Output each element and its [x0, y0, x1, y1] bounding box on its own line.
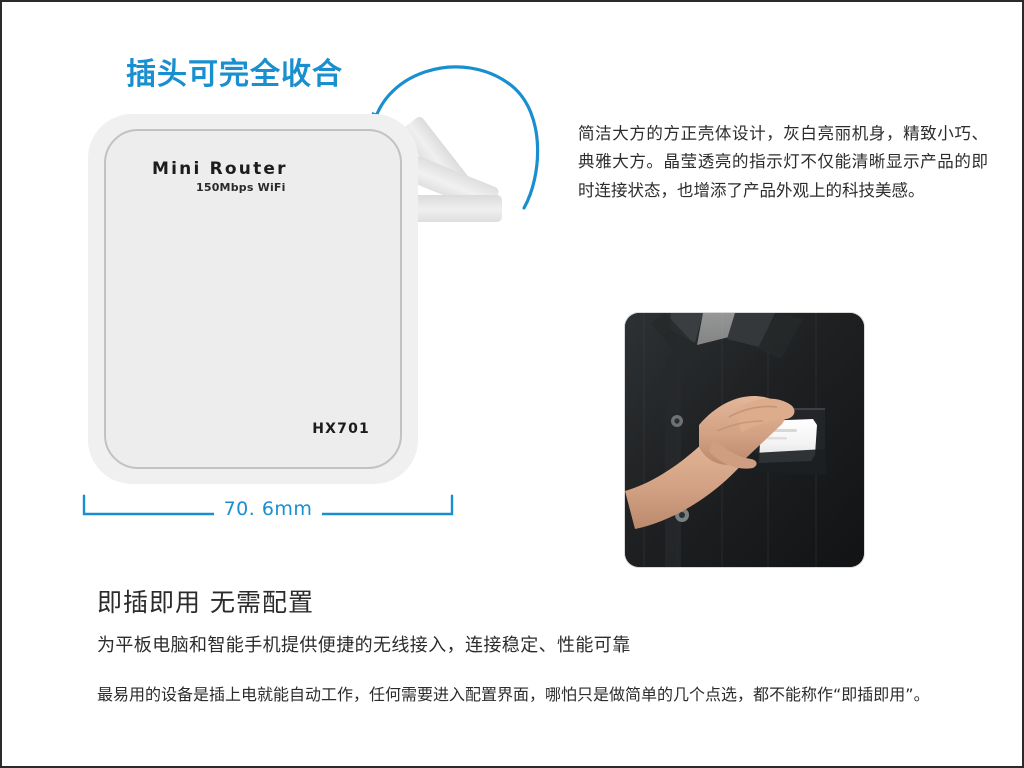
router-shell: Mini Router 150Mbps WiFi HX701 [88, 114, 418, 484]
router-in-shirt-pocket-photo [625, 313, 864, 567]
router-model-code: HX701 [312, 421, 370, 437]
router-brand-subtitle: 150Mbps WiFi [196, 181, 286, 194]
dimension-label: 70. 6mm [214, 498, 323, 520]
pocket-photo-graphic [625, 313, 864, 567]
plug-and-play-body: 最易用的设备是插上电就能自动工作，任何需要进入配置界面，哪怕只是做简单的几个点选… [97, 681, 963, 708]
router-front-panel: Mini Router 150Mbps WiFi HX701 [104, 129, 402, 469]
dimension-label-wrap: 70. 6mm [82, 498, 454, 520]
plug-and-play-subheading: 为平板电脑和智能手机提供便捷的无线接入，连接稳定、性能可靠 [97, 632, 967, 659]
plug-retract-headline: 插头可完全收合 [126, 58, 343, 93]
design-description-paragraph: 简洁大方的方正壳体设计，灰白亮丽机身，精致小巧、典雅大方。晶莹透亮的指示灯不仅能… [578, 120, 988, 205]
plug-and-play-section: 即插即用 无需配置 为平板电脑和智能手机提供便捷的无线接入，连接稳定、性能可靠 … [97, 587, 967, 708]
router-brand-title: Mini Router [152, 159, 288, 179]
plug-prong-lower [404, 195, 502, 222]
product-feature-page: 插头可完全收合 Mini Router 150Mbps WiFi HX701 7… [0, 0, 1024, 768]
router-illustration: Mini Router 150Mbps WiFi HX701 [88, 114, 418, 484]
width-dimension: 70. 6mm [82, 494, 454, 536]
plug-and-play-heading: 即插即用 无需配置 [97, 587, 967, 620]
